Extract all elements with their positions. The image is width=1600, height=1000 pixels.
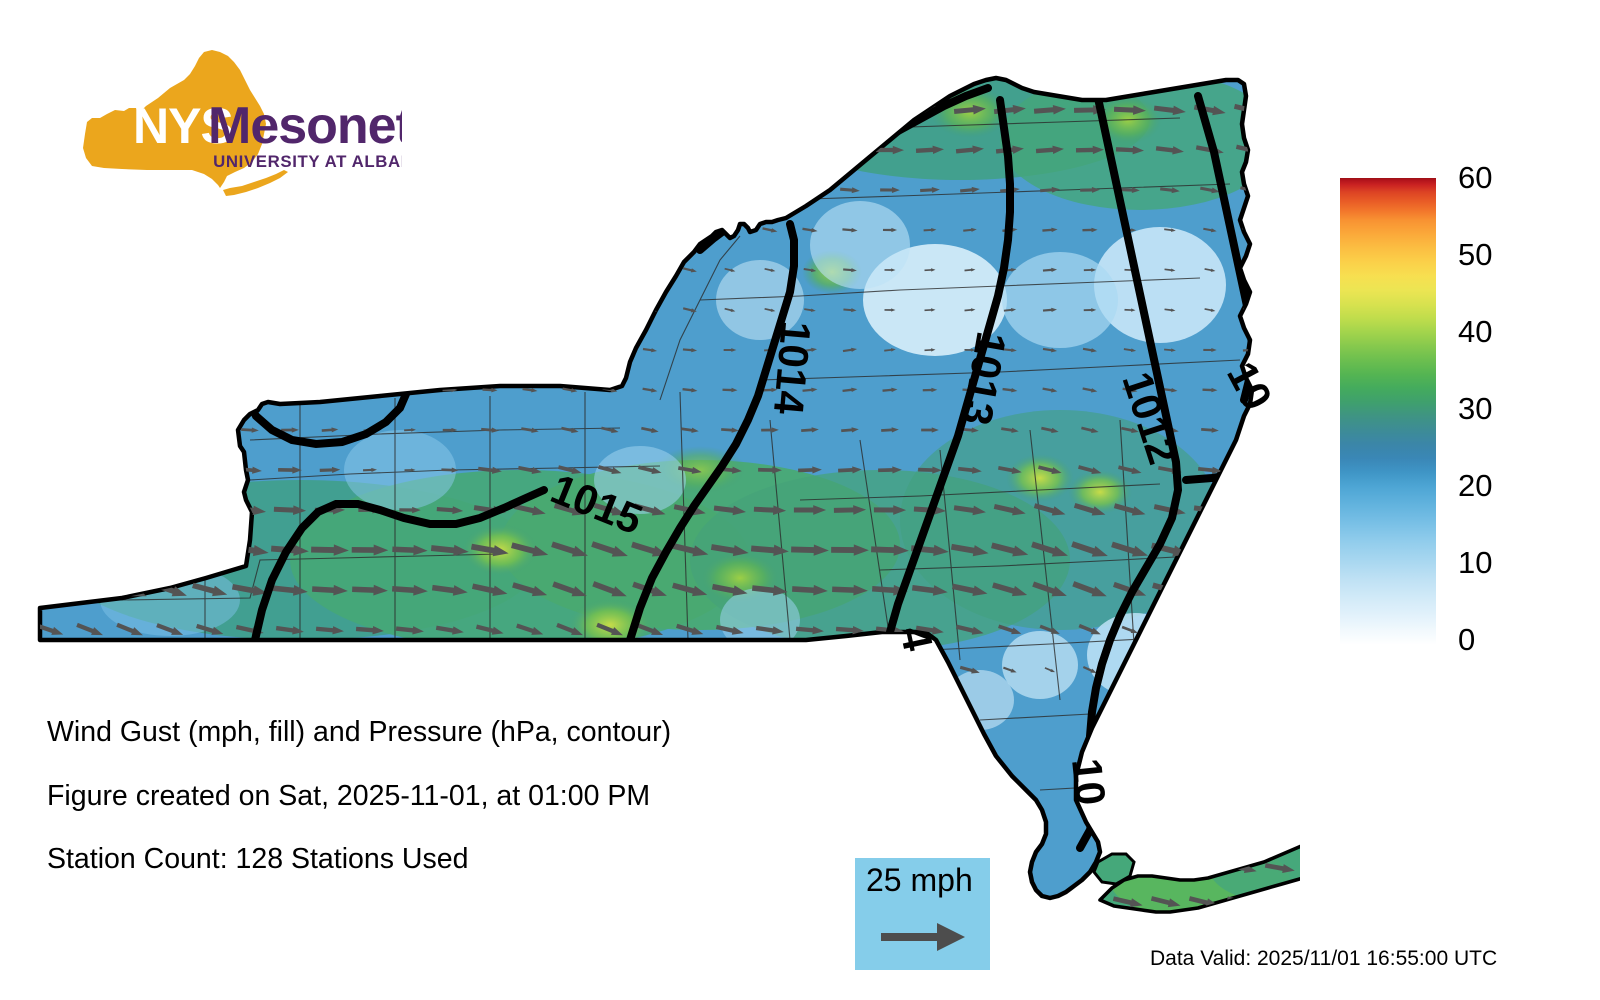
caption-station-line: Station Count: 128 Stations Used (47, 845, 807, 874)
contour-label-1012-south: 10 (1063, 756, 1115, 807)
long-island (1080, 800, 1300, 960)
colorbar-tick-20: 20 (1458, 470, 1492, 501)
colorbar-tick-50: 50 (1458, 239, 1492, 270)
reference-vector-arrow-icon (881, 920, 967, 954)
reference-vector-label: 25 mph (866, 864, 973, 896)
colorbar-tick-0: 0 (1458, 624, 1475, 655)
colorbar: 60 50 40 30 20 10 0 (1340, 178, 1590, 648)
colorbar-tick-30: 30 (1458, 393, 1492, 424)
colorbar-tick-10: 10 (1458, 547, 1492, 578)
caption-created-line: Figure created on Sat, 2025-11-01, at 01… (47, 782, 807, 811)
colorbar-tick-60: 60 (1458, 162, 1492, 193)
contour-label-1014-north: 1014 (765, 319, 820, 417)
caption-title-line: Wind Gust (mph, fill) and Pressure (hPa,… (47, 718, 807, 747)
reference-vector-key: 25 mph (855, 858, 990, 970)
data-valid-timestamp: Data Valid: 2025/11/01 16:55:00 UTC (1150, 948, 1497, 969)
colorbar-tick-40: 40 (1458, 316, 1492, 347)
figure-caption: Wind Gust (mph, fill) and Pressure (hPa,… (47, 718, 807, 909)
colorbar-gradient (1340, 178, 1436, 645)
